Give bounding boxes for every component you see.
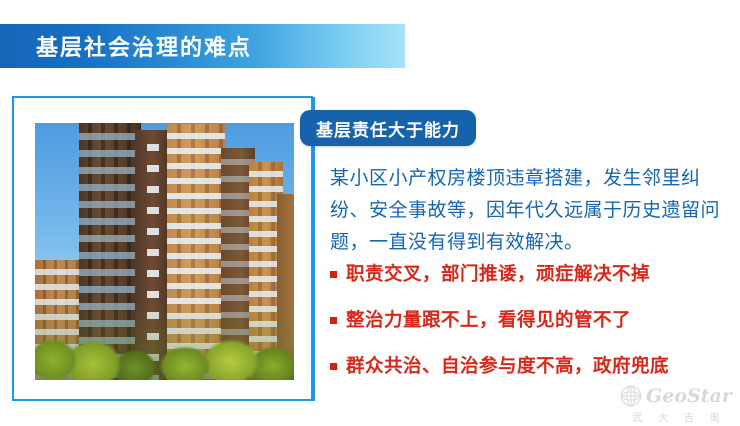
apartment-photo bbox=[35, 123, 294, 380]
callout-label: 基层责任大于能力 bbox=[300, 110, 476, 146]
list-item: 群众共治、自治参与度不高，政府兜底 bbox=[330, 354, 730, 380]
slide-root: 基层社会治理的难点 bbox=[0, 0, 740, 426]
photo-frame bbox=[12, 96, 313, 401]
watermark: GeoStar 武 大 吉 奥 bbox=[618, 383, 734, 423]
list-item-label: 职责交叉，部门推诿，顽症解决不掉 bbox=[346, 262, 650, 288]
watermark-brand: GeoStar bbox=[646, 386, 732, 406]
bullet-square-icon bbox=[330, 271, 337, 278]
list-item-label: 群众共治、自治参与度不高，政府兜底 bbox=[346, 354, 669, 380]
watermark-subtitle: 武 大 吉 奥 bbox=[618, 410, 734, 425]
page-title: 基层社会治理的难点 bbox=[36, 30, 252, 62]
list-item-label: 整治力量跟不上，看得见的管不了 bbox=[346, 308, 631, 334]
title-banner: 基层社会治理的难点 bbox=[0, 24, 405, 68]
tree-line bbox=[35, 302, 294, 380]
watermark-row: GeoStar bbox=[618, 383, 734, 409]
list-item: 整治力量跟不上，看得见的管不了 bbox=[330, 308, 730, 334]
bullet-square-icon bbox=[330, 363, 337, 370]
bullet-square-icon bbox=[330, 317, 337, 324]
list-item: 职责交叉，部门推诿，顽症解决不掉 bbox=[330, 262, 730, 288]
body-paragraph: 某小区小产权房楼顶违章搭建，发生邻里纠纷、安全事故等，因年代久远属于历史遗留问题… bbox=[330, 162, 728, 258]
callout-label-text: 基层责任大于能力 bbox=[316, 116, 460, 141]
globe-icon bbox=[618, 383, 644, 409]
bullet-list: 职责交叉，部门推诿，顽症解决不掉 整治力量跟不上，看得见的管不了 群众共治、自治… bbox=[330, 262, 730, 400]
